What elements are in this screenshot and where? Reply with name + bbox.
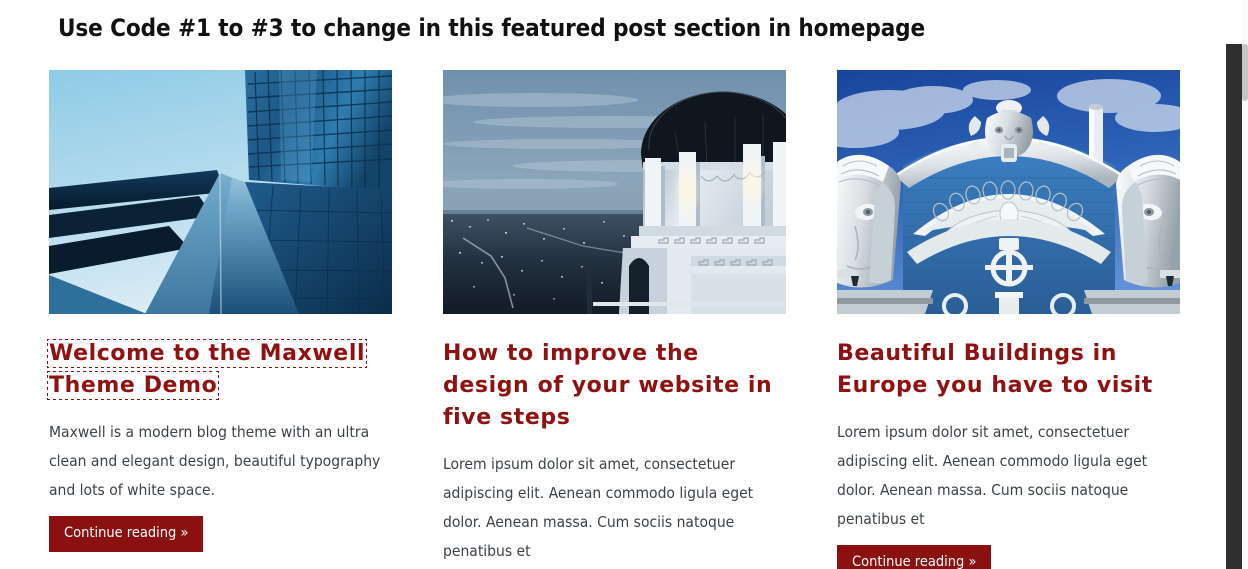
post-excerpt-1: Maxwell is a modern blog theme with an u… bbox=[49, 418, 392, 505]
right-side-panel bbox=[1226, 44, 1242, 569]
featured-post-1: Welcome to the Maxwell Theme Demo Maxwel… bbox=[49, 70, 392, 569]
post-title-2: How to improve the design of your websit… bbox=[443, 338, 786, 434]
featured-post-3: Beautiful Buildings in Europe you have t… bbox=[837, 70, 1180, 569]
post-excerpt-3: Lorem ipsum dolor sit amet, consectetuer… bbox=[837, 418, 1180, 534]
post-title-link-3[interactable]: Beautiful Buildings in Europe you have t… bbox=[837, 341, 1153, 398]
post-thumbnail-link-3[interactable] bbox=[837, 70, 1180, 314]
post-thumbnail-link-2[interactable] bbox=[443, 70, 786, 314]
page-root: Use Code #1 to #3 to change in this feat… bbox=[0, 0, 1248, 569]
post-title-link-1[interactable]: Welcome to the Maxwell Theme Demo bbox=[49, 341, 365, 398]
post-title-1: Welcome to the Maxwell Theme Demo bbox=[49, 338, 392, 402]
griffith-observatory-dusk-city-lights-icon bbox=[443, 70, 786, 314]
featured-post-grid: Welcome to the Maxwell Theme Demo Maxwel… bbox=[49, 70, 1178, 569]
featured-post-2: How to improve the design of your websit… bbox=[443, 70, 786, 569]
post-title-3: Beautiful Buildings in Europe you have t… bbox=[837, 338, 1180, 402]
page-scrollbar-thumb[interactable] bbox=[1242, 44, 1248, 101]
blue-glass-skyscraper-upward-view-icon bbox=[49, 70, 392, 314]
continue-reading-button-1[interactable]: Continue reading » bbox=[49, 516, 203, 552]
post-excerpt-2: Lorem ipsum dolor sit amet, consectetuer… bbox=[443, 450, 786, 566]
post-thumbnail-link-1[interactable] bbox=[49, 70, 392, 314]
page-title: Use Code #1 to #3 to change in this feat… bbox=[58, 14, 1158, 42]
riga-art-nouveau-facade-masks-icon bbox=[837, 70, 1180, 314]
continue-reading-button-3[interactable]: Continue reading » bbox=[837, 545, 991, 569]
post-title-link-2[interactable]: How to improve the design of your websit… bbox=[443, 341, 772, 430]
